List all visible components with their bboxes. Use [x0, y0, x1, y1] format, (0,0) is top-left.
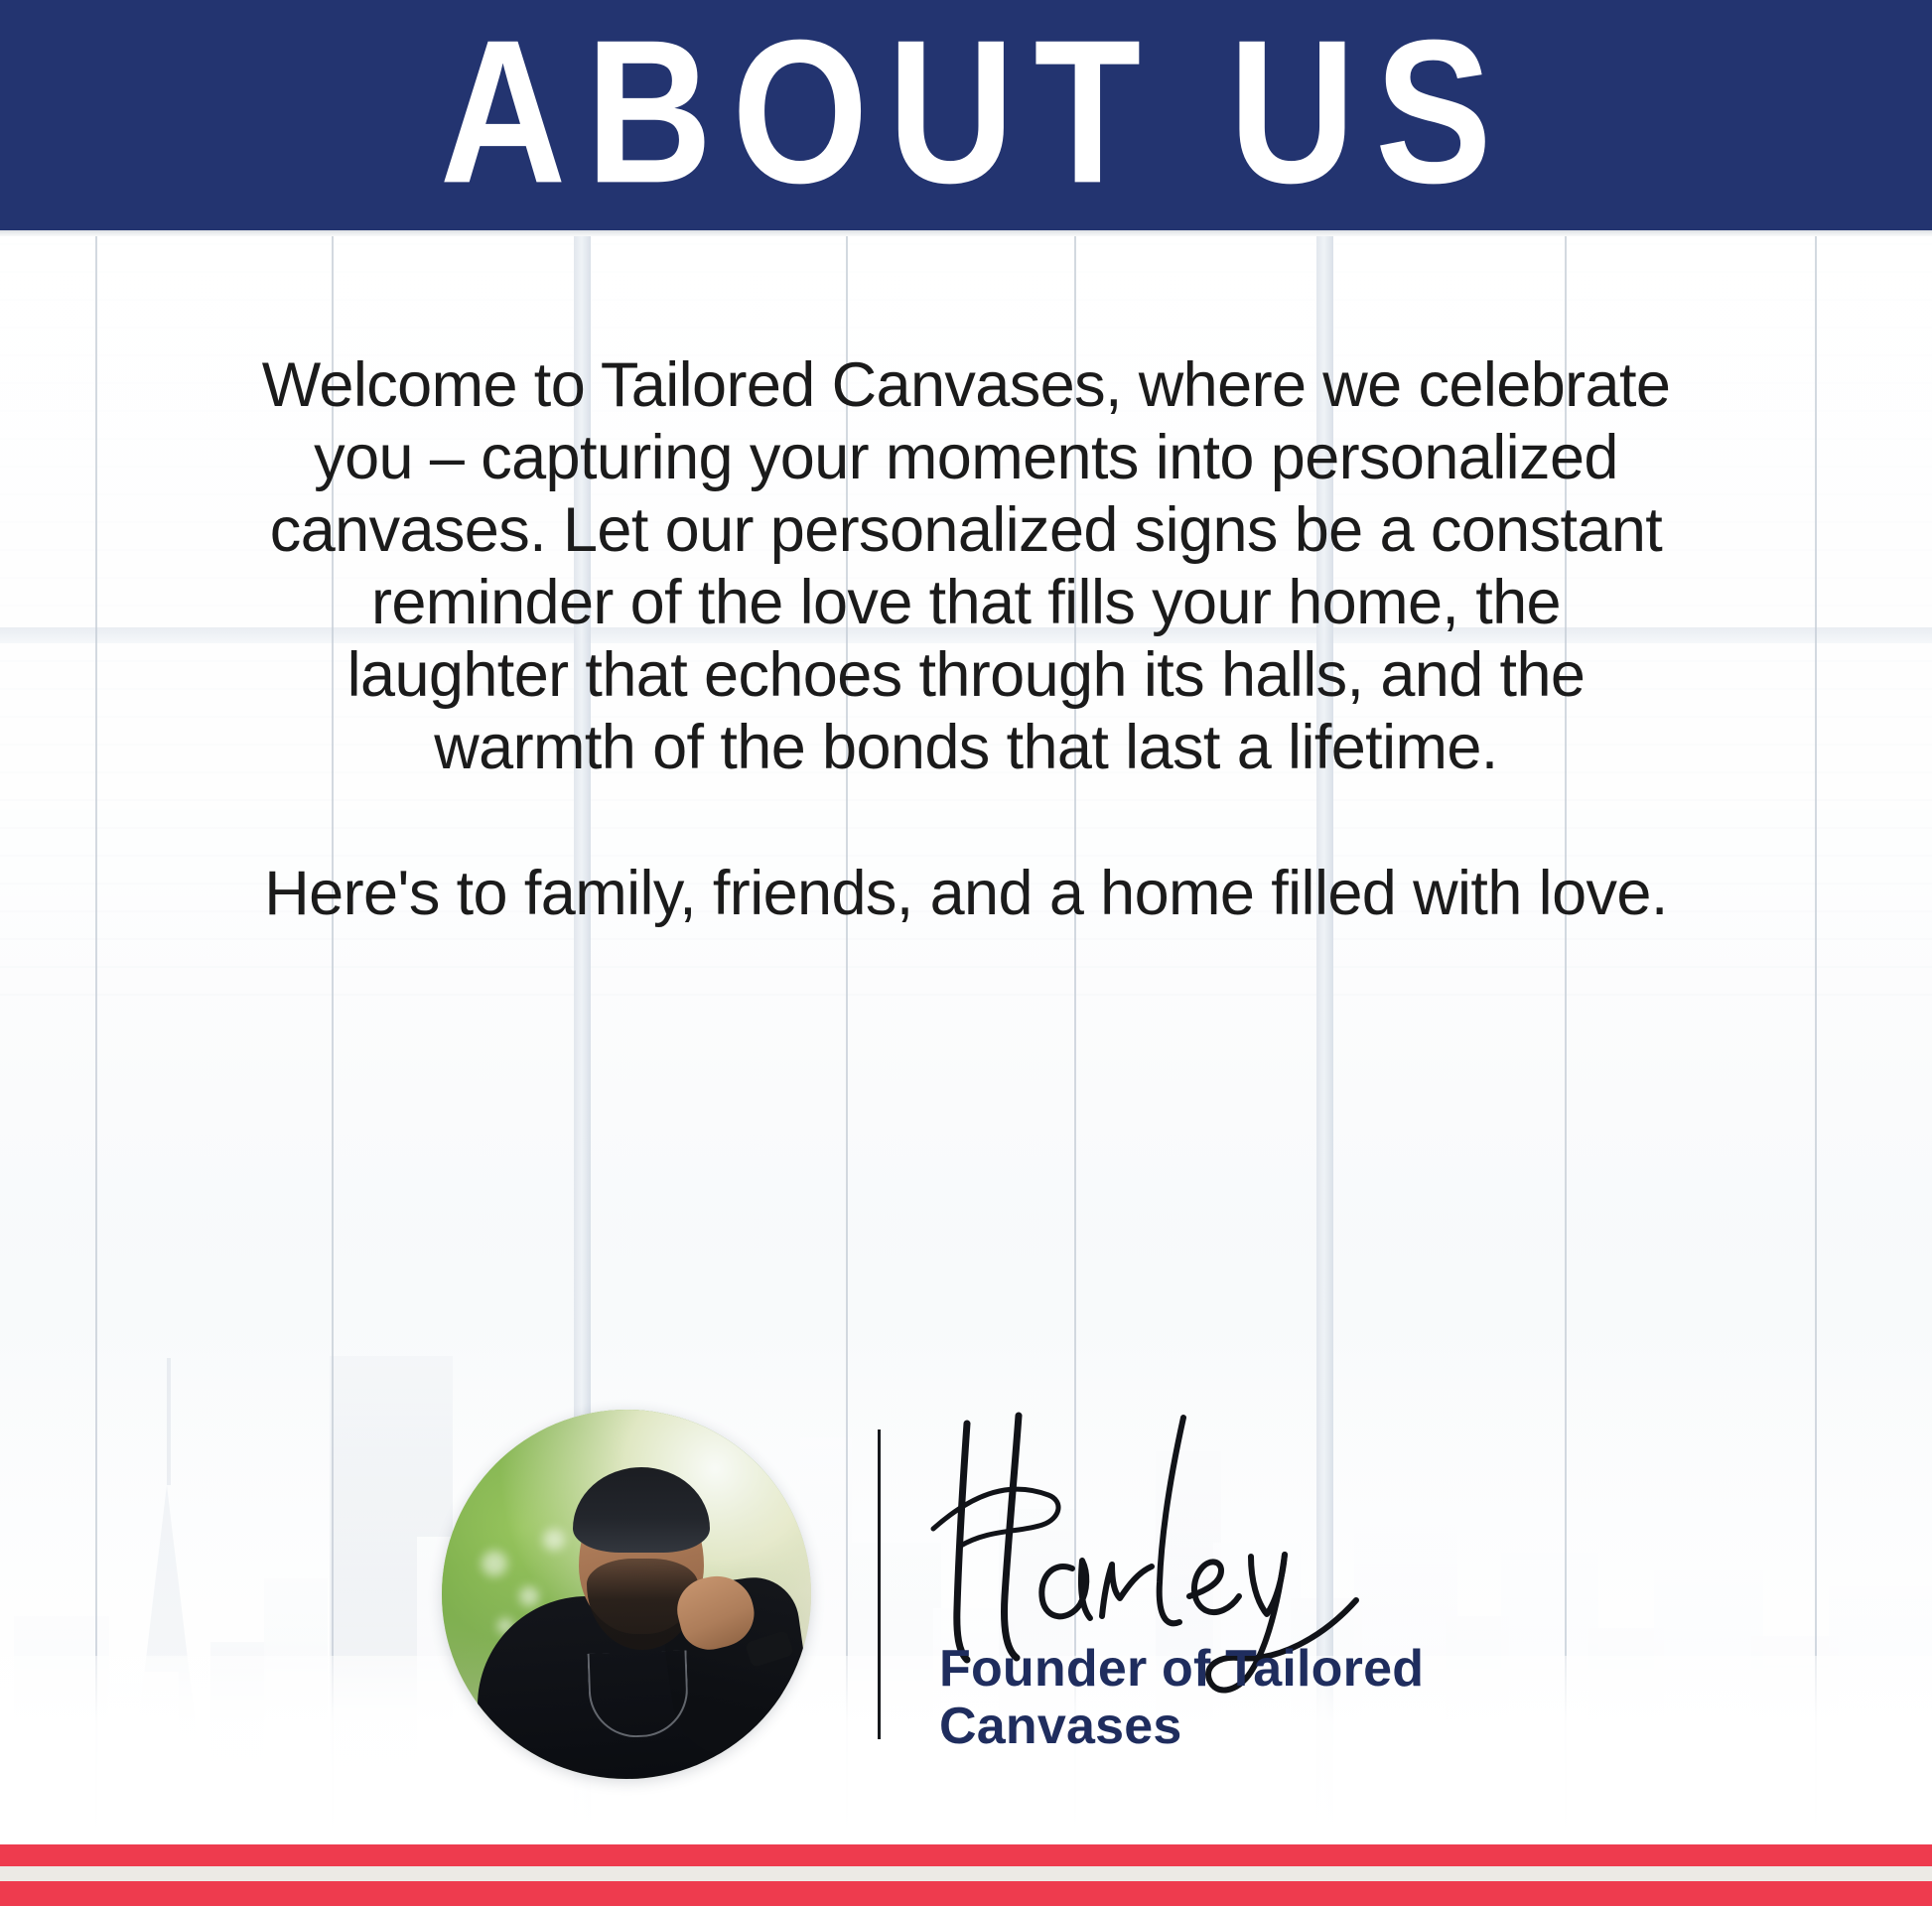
page-header-banner: ABOUT US [0, 0, 1932, 230]
footer-stripe-top [0, 1844, 1932, 1866]
bokeh-light [482, 1551, 507, 1576]
about-us-page: ABOUT US Welcome to Tailored Canvases, w… [0, 0, 1932, 1906]
window-mullion [95, 230, 97, 1844]
banner-underline [0, 230, 1932, 236]
about-copy: Welcome to Tailored Canvases, where we c… [261, 349, 1671, 931]
about-paragraph-2: Here's to family, friends, and a home fi… [261, 858, 1671, 930]
bokeh-light [543, 1529, 565, 1551]
founder-title-line-1: Founder of Tailored [939, 1640, 1575, 1698]
founder-title: Founder of Tailored Canvases [939, 1640, 1575, 1755]
signature-divider [878, 1429, 881, 1739]
bokeh-light [519, 1586, 539, 1606]
founder-title-line-2: Canvases [939, 1698, 1575, 1755]
paragraph-spacer [261, 784, 1671, 858]
page-title: ABOUT US [420, 10, 1511, 214]
founder-portrait [442, 1410, 811, 1779]
window-mullion [1815, 230, 1817, 1844]
footer-stripe-gap [0, 1866, 1932, 1881]
footer-stripe-bottom [0, 1881, 1932, 1906]
about-paragraph-1: Welcome to Tailored Canvases, where we c… [261, 349, 1671, 784]
